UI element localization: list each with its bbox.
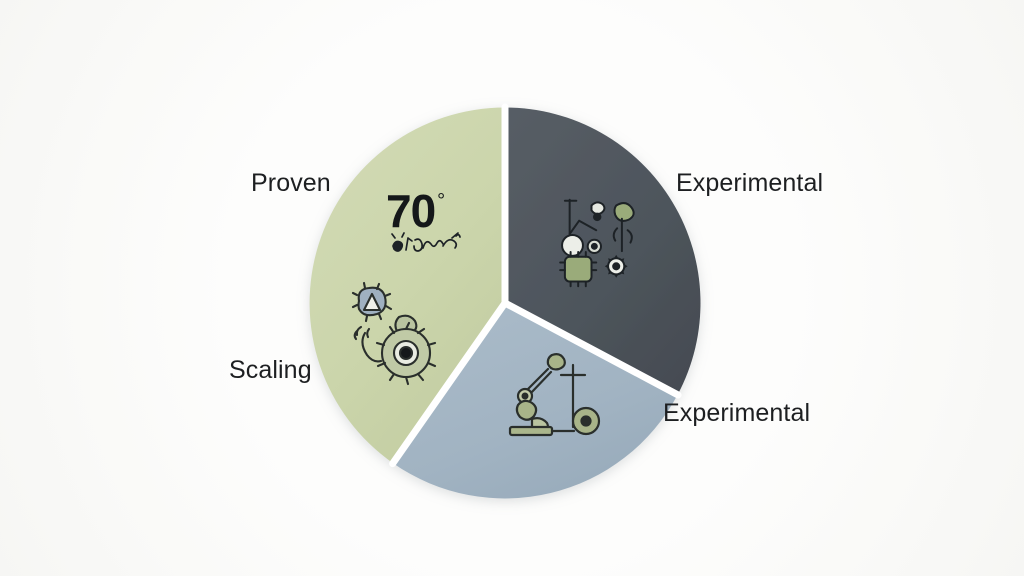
center-value-number: 70 — [386, 188, 435, 234]
slice-label-scaling: Scaling — [229, 358, 312, 383]
slice-label-experimental-top: Experimental — [676, 171, 823, 196]
pie-chart — [0, 0, 1024, 576]
center-value-group: 70° — [386, 188, 462, 256]
slice-label-experimental-bottom: Experimental — [663, 401, 810, 426]
chart-stage: Proven Scaling Experimental Experimental… — [0, 0, 1024, 576]
slice-label-proven: Proven — [251, 171, 331, 196]
degree-symbol: ° — [437, 190, 445, 212]
